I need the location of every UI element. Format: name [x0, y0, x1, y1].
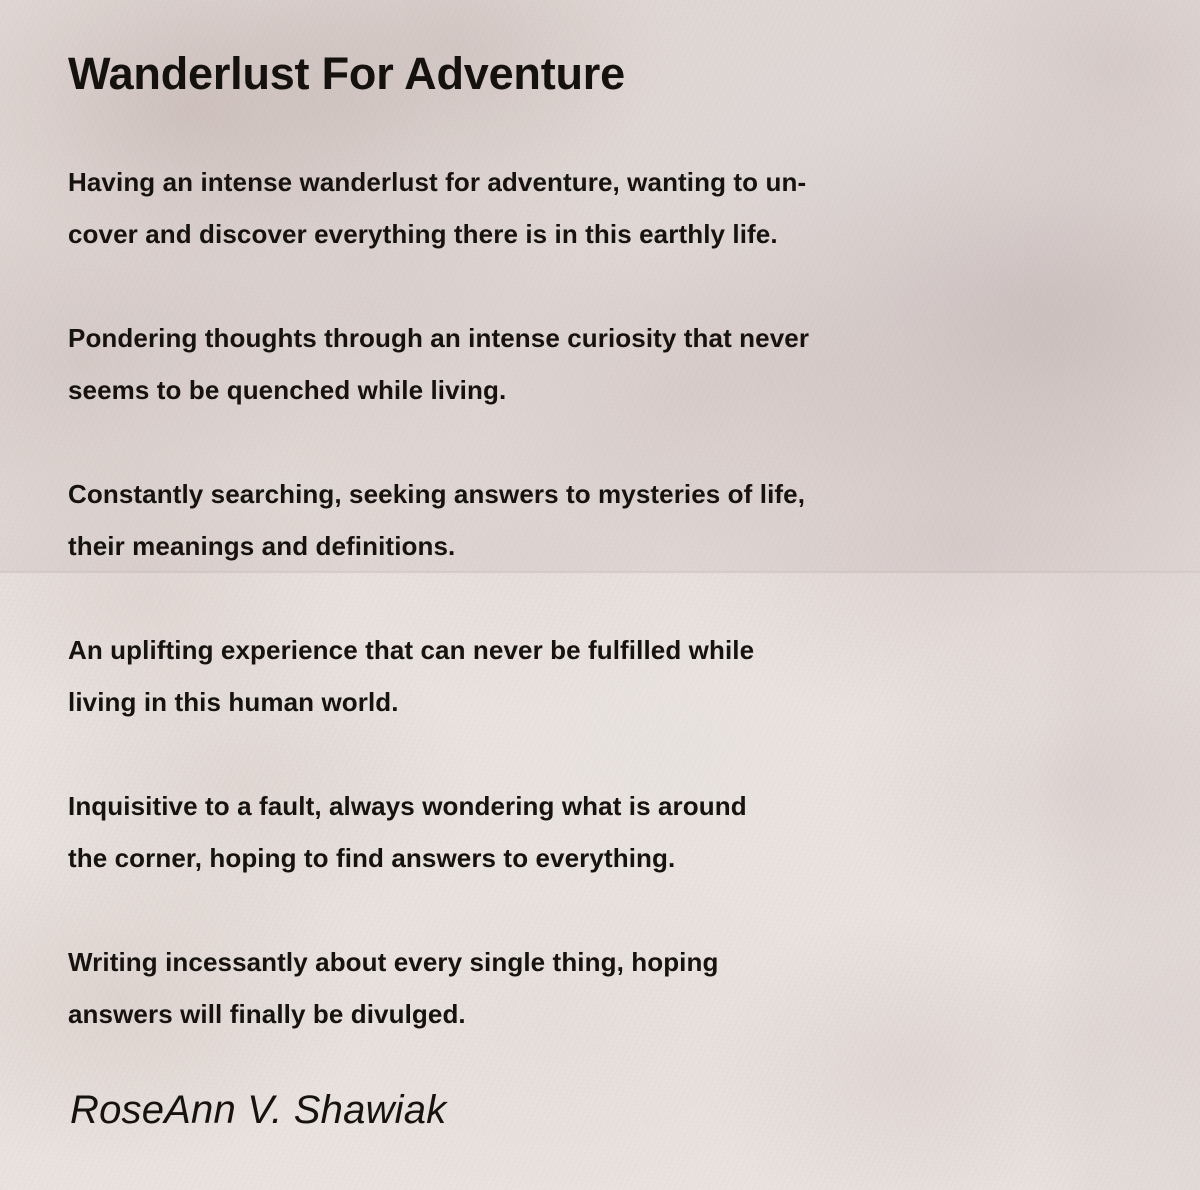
poem-line: Having an intense wanderlust for adventu… [68, 156, 1068, 208]
poem-line: An uplifting experience that can never b… [68, 624, 1068, 676]
poem-line: their meanings and definitions. [68, 520, 1068, 572]
poem-author-signature: RoseAnn V. Shawiak [70, 1084, 446, 1136]
poem-line: Inquisitive to a fault, always wondering… [68, 780, 1068, 832]
stanza: Having an intense wanderlust for adventu… [68, 156, 1068, 260]
poem-line: answers will finally be divulged. [68, 988, 1068, 1040]
stanza: Constantly searching, seeking answers to… [68, 468, 1068, 572]
poem-image-card: Wanderlust For Adventure Having an inten… [0, 0, 1200, 1190]
stanza: Inquisitive to a fault, always wondering… [68, 780, 1068, 884]
poem-line: cover and discover everything there is i… [68, 208, 1068, 260]
poem-body: Having an intense wanderlust for adventu… [68, 156, 1068, 1040]
poem-line: seems to be quenched while living. [68, 364, 1068, 416]
stanza: Pondering thoughts through an intense cu… [68, 312, 1068, 416]
poem-line: Writing incessantly about every single t… [68, 936, 1068, 988]
poem-line: Constantly searching, seeking answers to… [68, 468, 1068, 520]
stanza: An uplifting experience that can never b… [68, 624, 1068, 728]
poem-line: Pondering thoughts through an intense cu… [68, 312, 1068, 364]
poem-title: Wanderlust For Adventure [68, 48, 625, 100]
poem-line: the corner, hoping to find answers to ev… [68, 832, 1068, 884]
stanza: Writing incessantly about every single t… [68, 936, 1068, 1040]
poem-line: living in this human world. [68, 676, 1068, 728]
